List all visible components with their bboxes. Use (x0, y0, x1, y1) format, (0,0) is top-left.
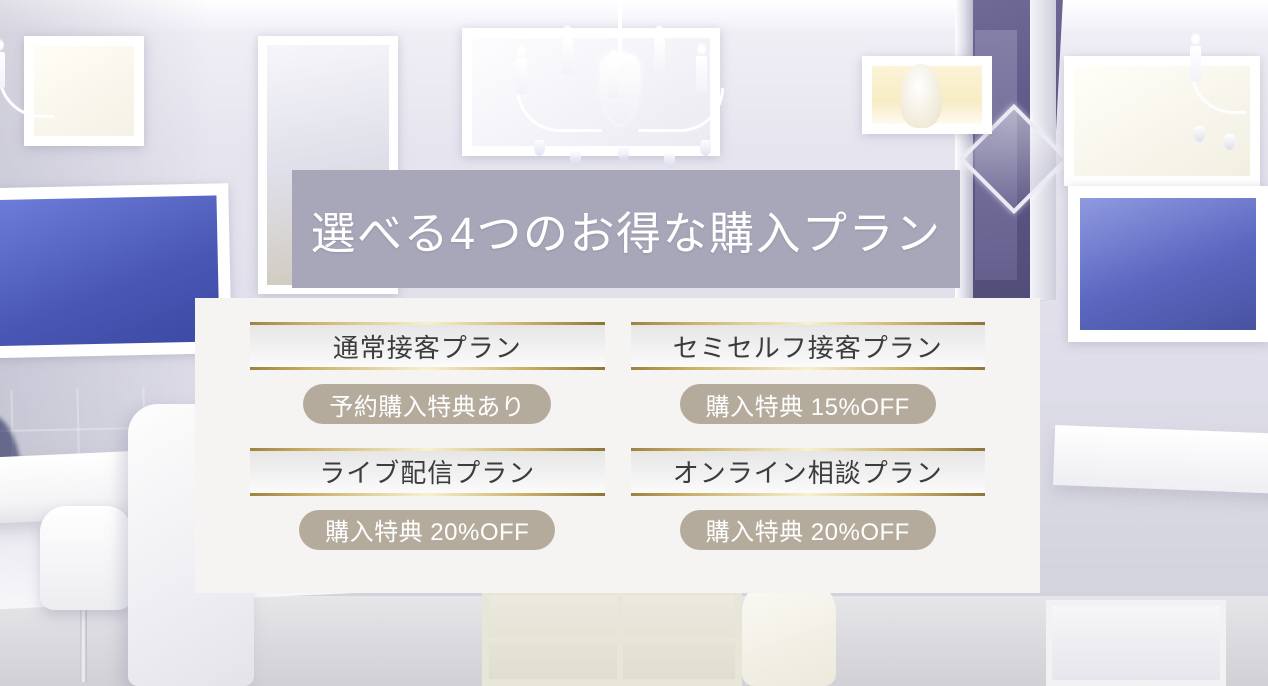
plans-panel: 通常接客プラン 予約購入特典あり セミセルフ接客プラン 購入特典 15%OFF … (195, 298, 1040, 593)
chandelier-candle-2 (562, 38, 573, 74)
chandelier-stem (618, 0, 622, 58)
plan-name: オンライン相談プラン (673, 453, 943, 490)
chandelier-crystal-4 (664, 152, 675, 168)
chandelier-candle-3 (608, 62, 619, 98)
wall-sconce-right (1180, 30, 1268, 180)
sconce-arm-left (0, 74, 54, 118)
chandelier-crystal-2 (570, 150, 581, 166)
chandelier-body (600, 52, 640, 124)
sconce-candle-left (0, 52, 5, 88)
sconce-candle-right (1190, 46, 1201, 82)
chandelier (500, 0, 740, 180)
plan-name: ライブ配信プラン (319, 453, 535, 490)
chandelier-crystal-3 (618, 146, 629, 162)
display-monitor-right (1068, 186, 1268, 342)
chandelier-arm-right (638, 88, 724, 132)
sconce-crystal-1 (1194, 126, 1205, 142)
plan-card-regular[interactable]: 通常接客プラン 予約購入特典あり (250, 322, 605, 448)
plan-header: ライブ配信プラン (250, 448, 605, 496)
chandelier-candle-5 (696, 56, 707, 92)
counter-right (1053, 425, 1268, 495)
plan-card-online-consultation[interactable]: オンライン相談プラン 購入特典 20%OFF (631, 448, 986, 574)
chandelier-crystal-5 (700, 140, 711, 156)
plan-name: 通常接客プラン (333, 328, 522, 365)
sconce-crystal-2 (1224, 134, 1235, 150)
page-title: 選べる4つのお得な購入プラン (310, 197, 941, 262)
plan-benefit-badge: 購入特典 20%OFF (299, 510, 555, 550)
title-banner: 選べる4つのお得な購入プラン (292, 170, 960, 288)
cabinet-right (1046, 600, 1226, 686)
plan-benefit-badge: 購入特典 20%OFF (680, 510, 936, 550)
plan-benefit-badge: 購入特典 15%OFF (680, 384, 936, 424)
shelf-horizontal (489, 637, 735, 644)
plan-header: 通常接客プラン (250, 322, 605, 370)
storage-shelf (482, 588, 742, 686)
plan-header: オンライン相談プラン (631, 448, 986, 496)
plan-name: セミセルフ接客プラン (673, 328, 943, 365)
chair-center (742, 578, 836, 686)
chandelier-arm-left (516, 88, 602, 132)
plan-card-live-streaming[interactable]: ライブ配信プラン 購入特典 20%OFF (250, 448, 605, 574)
chandelier-candle-4 (654, 38, 665, 74)
plan-benefit-badge: 予約購入特典あり (303, 384, 551, 424)
chandelier-candle-1 (516, 58, 527, 94)
chair-leg-left (80, 602, 87, 682)
wall-sconce-left (0, 34, 78, 184)
plan-header: セミセルフ接客プラン (631, 322, 986, 370)
plan-card-semi-self[interactable]: セミセルフ接客プラン 購入特典 15%OFF (631, 322, 986, 448)
stylist-chair-left (40, 506, 132, 610)
chandelier-crystal-1 (534, 140, 545, 156)
